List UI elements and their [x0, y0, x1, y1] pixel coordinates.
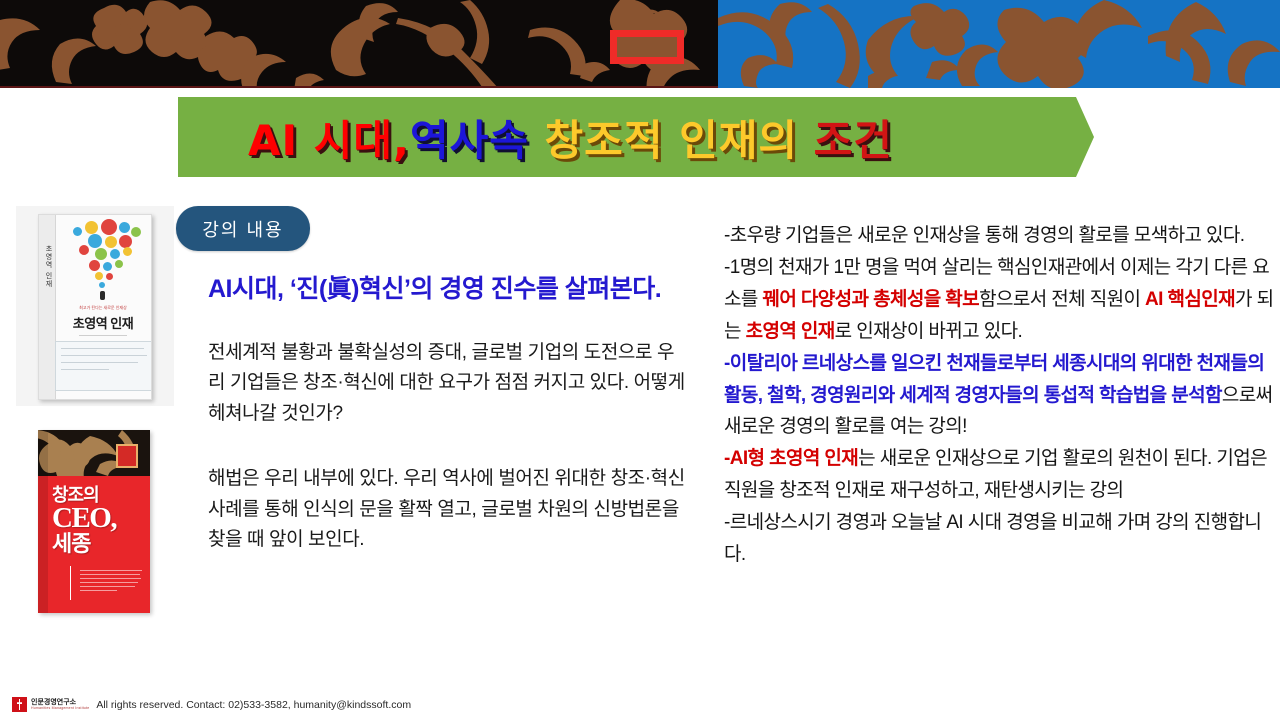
- highlighted-text: AI 핵심인재: [1145, 289, 1235, 310]
- highlighted-text: -이탈리아 르네상스를 일으킨 천재들로부터 세종시대의 위대한 천재들의 활동…: [724, 353, 1264, 406]
- book-obi-band: [55, 341, 152, 391]
- book-cover-floral-header: [38, 430, 150, 476]
- bullet-item: -이탈리아 르네상스를 일으킨 천재들로부터 세종시대의 위대한 천재들의 활동…: [724, 348, 1276, 444]
- balloon-cluster-illustration: [55, 219, 151, 309]
- book-cover-text-lines: [61, 333, 145, 338]
- banner-underline: [0, 86, 718, 88]
- bullet-item: -초우량 기업들은 새로운 인재상을 통해 경영의 활로를 모색하고 있다.: [724, 220, 1276, 252]
- highlighted-text: -AI형 초영역 인재: [724, 448, 858, 469]
- cover-divider: [70, 566, 71, 600]
- plain-text: -르네상스시기 경영과 오늘날 AI 시대 경영을 비교해 가며 강의 진행합니…: [724, 512, 1261, 565]
- title-segment-1: AI 시대,: [248, 116, 410, 165]
- plain-text: 로 인재상이 바뀌고 있다.: [835, 321, 1023, 342]
- bullet-item: -AI형 초영역 인재는 새로운 인재상으로 기업 활로의 원천이 된다. 기업…: [724, 443, 1276, 507]
- lecture-lead-heading: AI시대, ‘진(眞)혁신’의 경영 진수를 살펴본다.: [208, 272, 690, 308]
- book-cover-title: 창조의 CEO, 세종: [52, 486, 116, 555]
- book-spine: [38, 430, 48, 613]
- institute-logo-icon: [12, 697, 27, 712]
- book-spine-title: 초영역 인재: [41, 245, 53, 288]
- header-banner: [0, 0, 1280, 88]
- book-spine: 초영역 인재: [39, 215, 56, 399]
- title-segment-2: 역사속: [410, 116, 529, 165]
- bullet-item: -1명의 천재가 1만 명을 먹여 살리는 핵심인재관에서 이제는 각기 다른 …: [724, 252, 1276, 348]
- title-segment-3: 창조적 인재의: [529, 116, 814, 165]
- footer: 인문경영연구소 Humanities Management Institute …: [12, 697, 411, 712]
- red-outline-rectangle: [610, 30, 684, 64]
- footer-copyright-contact: All rights reserved. Contact: 02)533-358…: [96, 699, 411, 711]
- damask-pattern-right-icon: [718, 0, 1280, 88]
- book-cover-title: 초영역 인재: [55, 313, 151, 332]
- highlighted-text: 초영역 인재: [746, 321, 835, 342]
- plain-text: 함으로서 전체 직원이: [979, 289, 1145, 310]
- section-badge-lecture-content: 강의 내용: [176, 206, 310, 251]
- book-cover-blurb-lines: [80, 570, 142, 594]
- footer-org-block: 인문경영연구소 Humanities Management Institute: [31, 699, 89, 710]
- book-thumbnail-list: 초영역 인재: [16, 206, 174, 637]
- book-cover-chosuperyeok-injae: 초영역 인재: [16, 206, 174, 406]
- blue-ornamental-panel: [718, 0, 1280, 88]
- black-ornamental-panel: [0, 0, 718, 88]
- book-cover-changjo-ceo-sejong: 창조의 CEO, 세종: [16, 424, 174, 619]
- highlighted-text: 꿰어 다양성과 총체성을 확보: [762, 289, 979, 310]
- title-banner: AI 시대,역사속 창조적 인재의 조건: [178, 97, 1094, 177]
- title-segment-4: 조건: [814, 116, 893, 165]
- lecture-paragraph-2: 해법은 우리 내부에 있다. 우리 역사에 벌어진 위대한 창조·혁신 사례를 …: [208, 464, 690, 556]
- book-cover-subtitle: 최고가 된다는 새로운 인재상: [55, 305, 151, 311]
- footer-org-name: 인문경영연구소: [31, 699, 89, 706]
- footer-org-subtitle: Humanities Management Institute: [31, 706, 89, 710]
- lecture-bullet-column: -초우량 기업들은 새로운 인재상을 통해 경영의 활로를 모색하고 있다. -…: [724, 220, 1276, 571]
- page-title: AI 시대,역사속 창조적 인재의 조건: [248, 107, 893, 168]
- lecture-paragraph-1: 전세계적 불황과 불확실성의 증대, 글로벌 기업의 도전으로 우리 기업들은 …: [208, 338, 690, 430]
- plain-text: -초우량 기업들은 새로운 인재상을 통해 경영의 활로를 모색하고 있다.: [724, 225, 1244, 246]
- lecture-description-column: AI시대, ‘진(眞)혁신’의 경영 진수를 살펴본다. 전세계적 불황과 불확…: [208, 272, 690, 590]
- bullet-item: -르네상스시기 경영과 오늘날 AI 시대 경영을 비교해 가며 강의 진행합니…: [724, 507, 1276, 571]
- cover-seal-icon: [116, 444, 138, 468]
